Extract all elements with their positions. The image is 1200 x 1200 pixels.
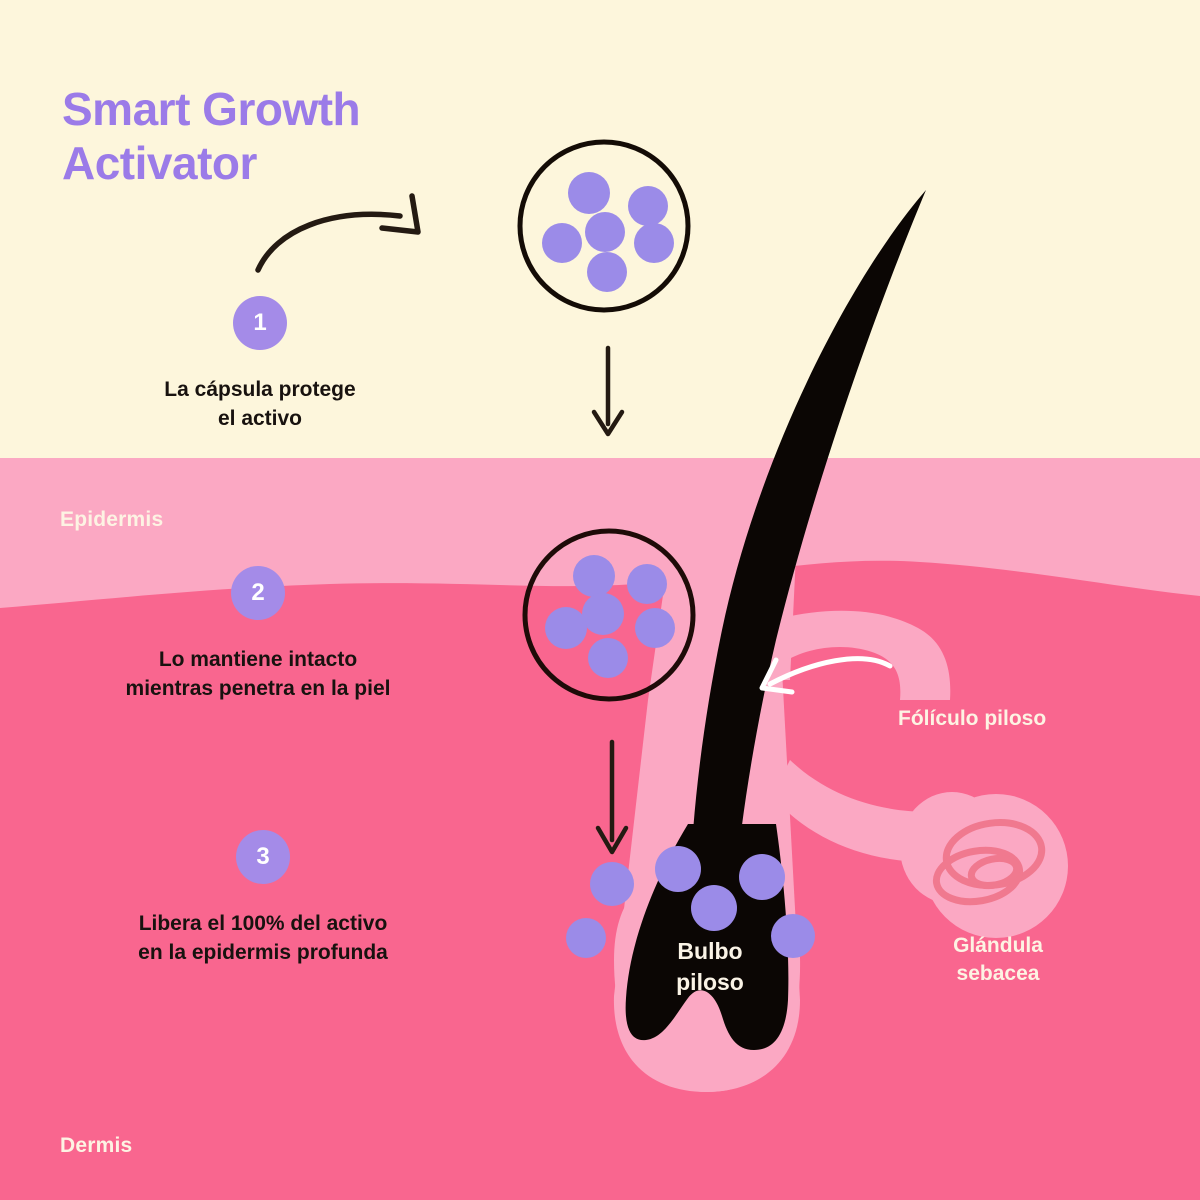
step-3-badge: 3 <box>236 830 290 884</box>
capsule-particle <box>585 212 625 252</box>
curved-arrow-title-body <box>258 214 400 270</box>
capsule-particle <box>545 607 587 649</box>
infographic-canvas: Smart Growth Activator Epidermis Dermis … <box>0 0 1200 1200</box>
capsule-particle <box>628 186 668 226</box>
step-2: 2 Lo mantiene intacto mientras penetra e… <box>58 566 458 704</box>
released-particle <box>691 885 737 931</box>
capsule-particle <box>573 555 615 597</box>
gland-duct <box>782 611 950 700</box>
sebaceous-gland <box>772 611 1068 938</box>
capsule-top <box>520 142 688 310</box>
released-particle <box>739 854 785 900</box>
label-sebaceous-gland: Glándula sebacea <box>938 932 1058 987</box>
capsule-particle <box>634 223 674 263</box>
label-hair-bulb: Bulbo piloso <box>640 936 780 998</box>
released-particle <box>566 918 606 958</box>
curved-arrow-title-icon <box>258 196 418 270</box>
capsule-particle <box>568 172 610 214</box>
capsule-epidermis <box>525 531 693 699</box>
step-1-text: La cápsula protege el activo <box>95 376 425 434</box>
released-particle <box>590 862 634 906</box>
capsule-particle <box>635 608 675 648</box>
label-hair-follicle: Fólículo piloso <box>898 705 1046 733</box>
layer-label-epidermis: Epidermis <box>60 508 163 532</box>
arrow-capsule-down-dermis-icon <box>598 742 626 852</box>
layer-label-dermis: Dermis <box>60 1134 132 1158</box>
step-3: 3 Libera el 100% del activo en la epider… <box>78 830 448 968</box>
step-1-badge: 1 <box>233 296 287 350</box>
step-3-text: Libera el 100% del activo en la epidermi… <box>78 910 448 968</box>
capsule-particle <box>587 252 627 292</box>
step-2-text: Lo mantiene intacto mientras penetra en … <box>58 646 458 704</box>
capsule-particle <box>627 564 667 604</box>
capsule-particle <box>542 223 582 263</box>
capsule-particle <box>582 593 624 635</box>
capsule-particle <box>588 638 628 678</box>
step-2-badge: 2 <box>231 566 285 620</box>
arrow-capsule-down-top-icon <box>594 348 622 434</box>
step-1: 1 La cápsula protege el activo <box>95 296 425 434</box>
page-title: Smart Growth Activator <box>62 82 532 191</box>
released-particle <box>655 846 701 892</box>
